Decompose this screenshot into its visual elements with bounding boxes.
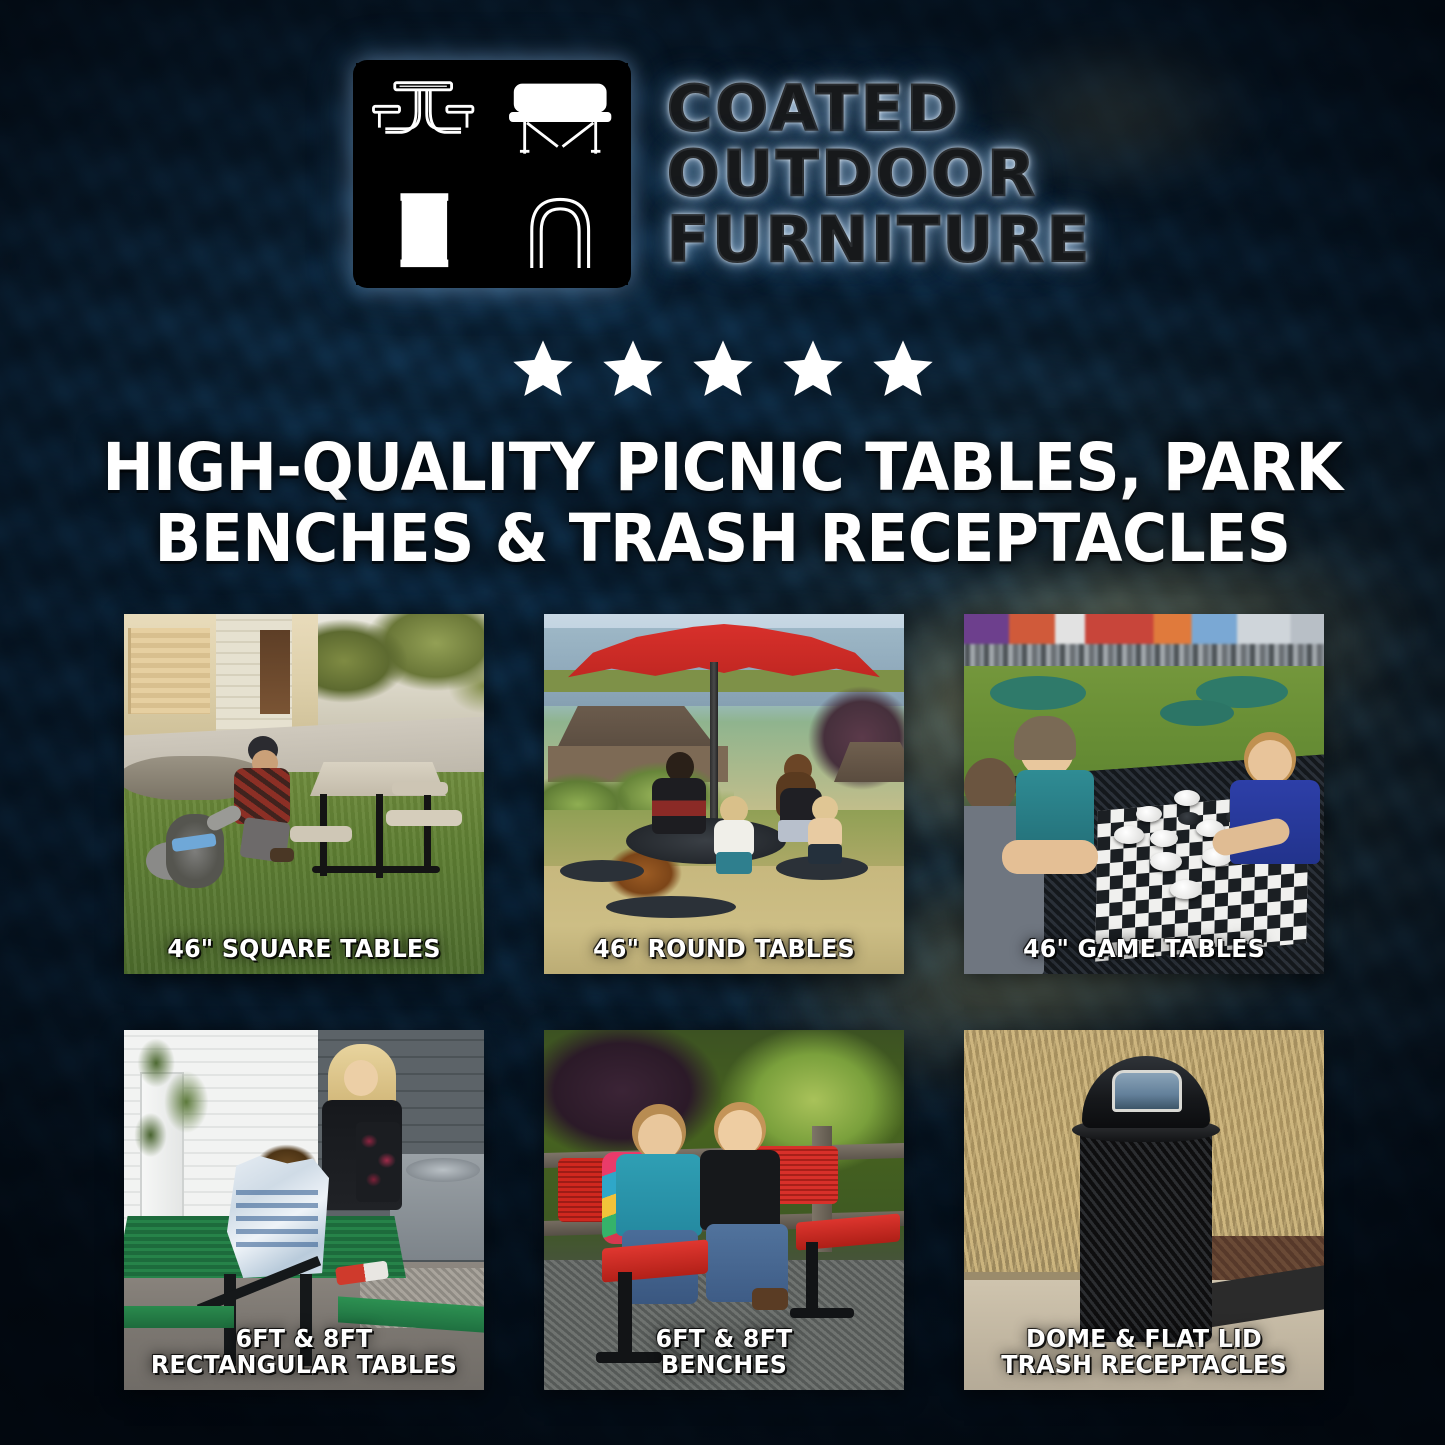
photo-round-table-with-umbrella [544,614,904,974]
tile-caption: 6FT & 8FT RECTANGULAR TABLES [133,1326,475,1378]
star-icon [509,336,577,402]
headline-line-2: BENCHES & TRASH RECEPTACLES [88,503,1357,574]
tile-caption-line-1: 46" GAME TABLES [973,936,1315,962]
bench-side-icon [493,63,628,173]
tile-caption-line-1: 46" ROUND TABLES [553,936,895,962]
tile-caption-line-1: DOME & FLAT LID [973,1326,1315,1352]
trash-receptacle-icon [356,176,491,286]
product-tile-square-tables[interactable]: 46" SQUARE TABLES [124,614,484,974]
bike-rack-arch-icon [493,176,628,286]
logo-icon-grid [353,60,631,288]
product-grid: 46" SQUARE TABLES [124,614,1324,1390]
product-tile-game-tables[interactable]: 46" GAME TABLES [964,614,1324,974]
headline-line-1: HIGH-QUALITY PICNIC TABLES, PARK [88,432,1357,503]
tile-caption: 6FT & 8FT BENCHES [553,1326,895,1378]
picnic-table-front-icon [356,63,491,173]
tile-caption: 46" GAME TABLES [973,936,1315,962]
brand-name: COATED OUTDOOR FURNITURE [667,77,1092,271]
tile-caption: DOME & FLAT LID TRASH RECEPTACLES [973,1326,1315,1378]
page-title: HIGH-QUALITY PICNIC TABLES, PARK BENCHES… [88,432,1357,575]
brand-logo: COATED OUTDOOR FURNITURE [0,60,1445,288]
marketing-poster: COATED OUTDOOR FURNITURE HIGH-QUALITY PI… [0,0,1445,1445]
brand-name-line-1: COATED [667,77,1092,140]
star-icon [689,336,757,402]
tile-caption-line-1: 6FT & 8FT [553,1326,895,1352]
product-tile-benches[interactable]: 6FT & 8FT BENCHES [544,1030,904,1390]
tile-caption-line-2: RECTANGULAR TABLES [133,1352,475,1378]
tile-caption-line-2: TRASH RECEPTACLES [973,1352,1315,1378]
star-icon [779,336,847,402]
brand-name-line-2: OUTDOOR [667,142,1092,205]
star-icon [869,336,937,402]
tile-caption-line-1: 46" SQUARE TABLES [133,936,475,962]
tile-caption-line-1: 6FT & 8FT [133,1326,475,1352]
tile-caption: 46" ROUND TABLES [553,936,895,962]
tile-caption: 46" SQUARE TABLES [133,936,475,962]
product-tile-round-tables[interactable]: 46" ROUND TABLES [544,614,904,974]
photo-square-table-with-dog [124,614,484,974]
star-icon [599,336,667,402]
photo-game-table-checkers [964,614,1324,974]
product-tile-trash-receptacles[interactable]: DOME & FLAT LID TRASH RECEPTACLES [964,1030,1324,1390]
tile-caption-line-2: BENCHES [553,1352,895,1378]
star-rating [0,336,1445,402]
product-tile-rectangular-tables[interactable]: 6FT & 8FT RECTANGULAR TABLES [124,1030,484,1390]
brand-name-line-3: FURNITURE [667,208,1092,271]
